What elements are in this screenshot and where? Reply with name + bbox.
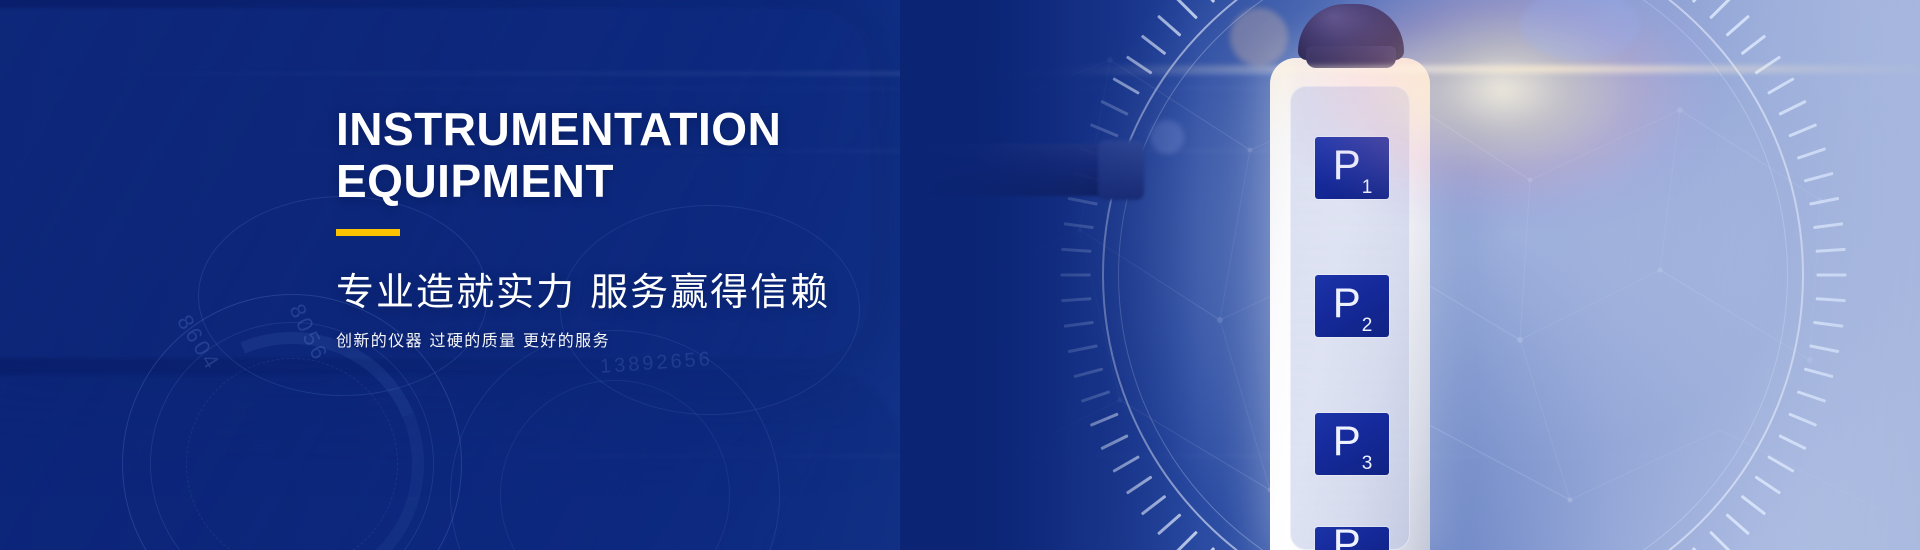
- product-photo-area: P1 P2 P3 P4: [900, 0, 1920, 550]
- banner-title: INSTRUMENTATION EQUIPMENT: [336, 104, 830, 208]
- banner-copy: INSTRUMENTATION EQUIPMENT 专业造就实力 服务赢得信赖 …: [336, 104, 830, 351]
- button-p4[interactable]: P4: [1315, 527, 1389, 550]
- dial-tick: [1709, 531, 1732, 550]
- banner-headline-chinese: 专业造就实力 服务赢得信赖: [336, 272, 830, 314]
- button-p3-label: P: [1333, 417, 1361, 464]
- instrument-dome-base: [1306, 46, 1396, 68]
- button-p1-subscript: 1: [1362, 177, 1373, 198]
- hero-banner: 8604 8056 13892656: [0, 0, 1920, 550]
- button-p2-label: P: [1333, 279, 1361, 326]
- button-p1-label: P: [1333, 141, 1361, 188]
- button-p2[interactable]: P2: [1315, 275, 1389, 337]
- button-p2-subscript: 2: [1362, 315, 1373, 336]
- photo-left-fade: [900, 0, 1200, 550]
- photo-right-fade: [1750, 0, 1920, 550]
- instrument-button-panel: P1 P2 P3 P4: [1290, 86, 1410, 550]
- banner-title-line2: EQUIPMENT: [336, 156, 830, 208]
- lens-flare-dot: [1230, 8, 1288, 66]
- accent-rule: [336, 229, 400, 236]
- dial-tick: [1725, 513, 1750, 535]
- dial-tick: [1709, 0, 1732, 19]
- dial-tick: [1691, 0, 1713, 3]
- button-p4-label: P: [1333, 527, 1361, 550]
- button-p3-subscript: 3: [1362, 453, 1373, 474]
- button-p3[interactable]: P3: [1315, 413, 1389, 475]
- dial-tick: [1725, 15, 1750, 37]
- banner-title-line1: INSTRUMENTATION: [336, 103, 781, 155]
- banner-subtitle-chinese: 创新的仪器 过硬的质量 更好的服务: [336, 327, 830, 351]
- button-p1[interactable]: P1: [1315, 137, 1389, 199]
- dial-inner-ring: [1118, 0, 1788, 550]
